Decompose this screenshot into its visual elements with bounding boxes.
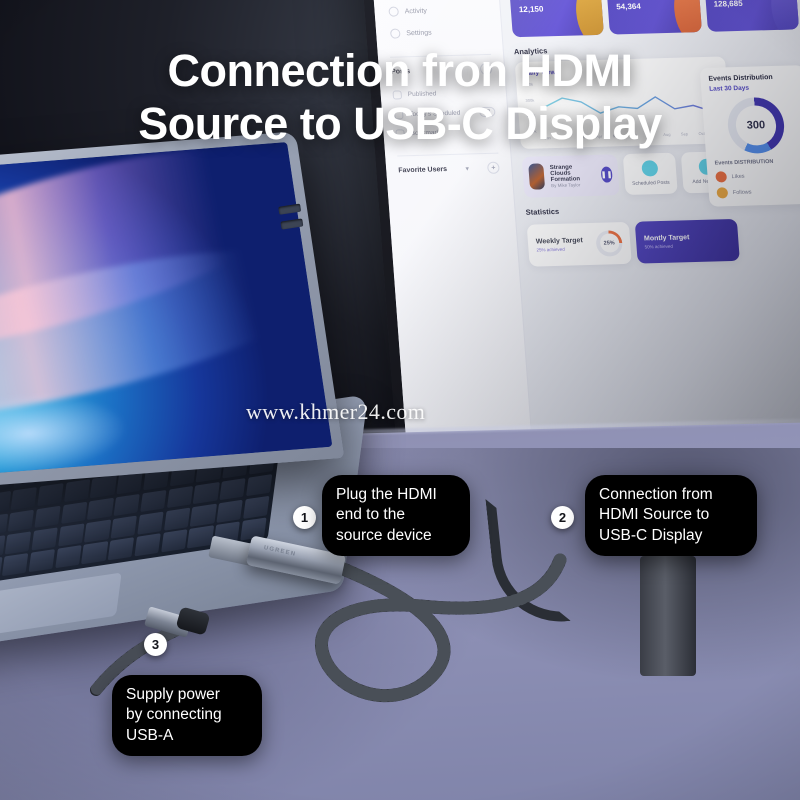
- adapter-brand-label: UGREEN: [263, 545, 296, 558]
- callout-step-1: Plug the HDMI end to the source device: [322, 475, 470, 556]
- media-title: Strange Clouds Formation: [550, 164, 596, 183]
- follows-icon: [716, 187, 728, 198]
- usb-port: [280, 218, 303, 229]
- callout-step-3: Supply power by connecting USB-A: [112, 675, 262, 756]
- content-cards-row: Strange Clouds Formation By Mike Taylor …: [522, 151, 735, 197]
- legend-item: Follows: [716, 185, 800, 198]
- sidebar-item-label: Activity: [404, 7, 427, 15]
- pause-icon[interactable]: ❚❚: [600, 167, 613, 183]
- stat-card-list: VIEWS 12,150 FOLLOWS 54,364 LIKES 128,68…: [509, 0, 799, 37]
- stat-card[interactable]: FOLLOWS 54,364: [607, 0, 702, 35]
- divider: [397, 153, 498, 157]
- target-title: Montly Target: [644, 234, 690, 242]
- target-subtitle: 50% achieved: [644, 243, 690, 249]
- media-card[interactable]: Strange Clouds Formation By Mike Taylor …: [522, 154, 620, 197]
- legend-label: Follows: [733, 189, 752, 196]
- media-thumbnail: [528, 164, 545, 190]
- media-subtitle: By Mike Taylor: [551, 182, 596, 188]
- stat-card[interactable]: VIEWS 12,150: [509, 0, 604, 37]
- legend-item: Likes: [715, 169, 800, 182]
- site-watermark: www.khmer24.com: [246, 399, 425, 425]
- legend-label: Likes: [731, 173, 744, 179]
- step-badge-2: 2: [551, 506, 574, 529]
- scheduled-posts-card[interactable]: Scheduled Posts: [623, 153, 677, 195]
- events-legend-title: Events DISTRIBUTION: [714, 158, 800, 166]
- callout-step-2: Connection from HDMI Source to USB-C Dis…: [585, 475, 757, 556]
- sidebar-item-label: Settings: [406, 29, 432, 37]
- target-title: Weekly Target: [536, 237, 583, 245]
- stat-card[interactable]: LIKES 128,685: [704, 0, 799, 32]
- step-badge-1: 1: [293, 506, 316, 529]
- progress-ring: 25%: [595, 230, 623, 257]
- headline-line-1: Connection fron HDMI: [54, 44, 746, 97]
- target-subtitle: 25% achieved: [536, 246, 583, 252]
- laptop-trackpad[interactable]: [0, 572, 122, 637]
- headline-line-2: Source to USB-C Display: [54, 97, 746, 150]
- decorative-blob: [672, 0, 702, 35]
- favorites-section-header[interactable]: Favorite Users ▾ +: [398, 162, 500, 177]
- usb-port: [278, 204, 301, 215]
- monitor-stand: [640, 556, 696, 676]
- scheduled-posts-icon: [641, 160, 658, 176]
- sidebar-item-activity[interactable]: Activity: [386, 0, 489, 23]
- wallpaper-glow: [0, 368, 173, 482]
- chevron-down-icon[interactable]: ▾: [465, 165, 469, 172]
- mini-card-label: Scheduled Posts: [629, 180, 673, 188]
- decorative-blob: [769, 0, 799, 32]
- step-badge-3: 3: [144, 633, 167, 656]
- laptop-lid: [0, 131, 344, 494]
- sidebar-item-settings[interactable]: Settings: [387, 20, 490, 45]
- likes-icon: [715, 171, 727, 182]
- progress-value: 25%: [603, 240, 614, 246]
- activity-icon: [388, 7, 399, 17]
- weekly-target-card[interactable]: Weekly Target 25% achieved 25%: [527, 221, 632, 266]
- laptop-screen: [0, 142, 332, 482]
- targets-row: Weekly Target 25% achieved 25% Montly Ta…: [527, 218, 740, 266]
- gear-icon: [390, 28, 401, 38]
- promo-image: Redwhale Growth & Marketing Dashboard Ac…: [0, 0, 800, 800]
- page-title: Connection fron HDMI Source to USB-C Dis…: [0, 44, 800, 150]
- favorites-title: Favorite Users: [398, 166, 447, 174]
- monthly-target-card[interactable]: Montly Target 50% achieved: [635, 218, 740, 263]
- laptop-ports: [278, 198, 348, 263]
- add-favorite-button[interactable]: +: [487, 162, 500, 174]
- decorative-blob: [574, 0, 604, 37]
